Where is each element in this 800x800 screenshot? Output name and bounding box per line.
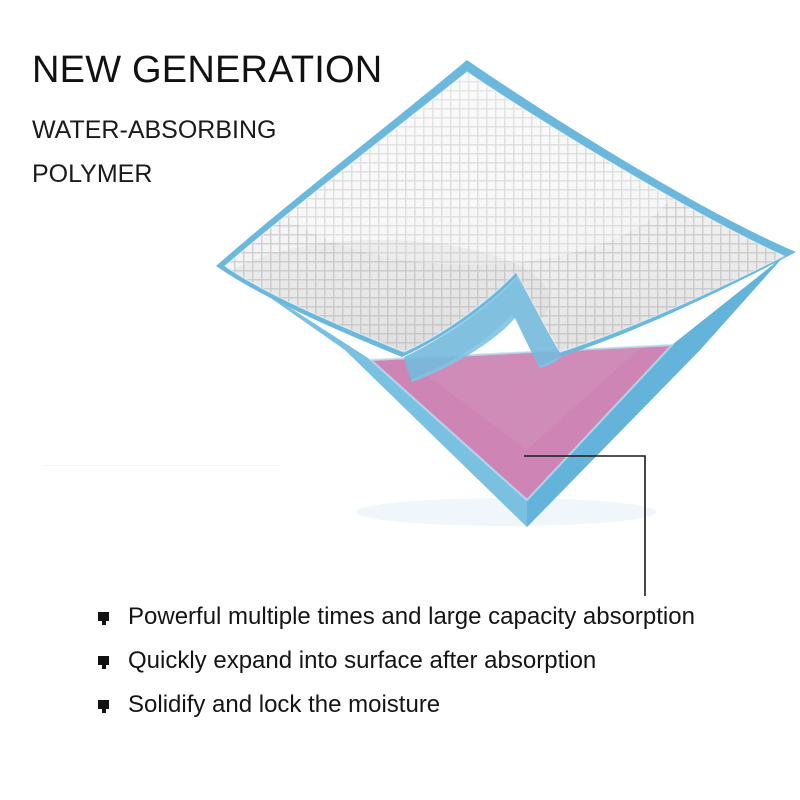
- square-bullet-icon: [98, 612, 109, 623]
- list-item: Solidify and lock the moisture: [98, 689, 695, 733]
- subtitle-line-2: POLYMER: [32, 152, 382, 196]
- square-bullet-icon: [98, 700, 109, 711]
- list-item: Quickly expand into surface after absorp…: [98, 645, 695, 689]
- list-item: Powerful multiple times and large capaci…: [98, 601, 695, 645]
- subtitle-line-1: WATER-ABSORBING: [32, 108, 382, 152]
- square-bullet-icon: [98, 656, 109, 667]
- feature-text: Powerful multiple times and large capaci…: [128, 601, 695, 632]
- feature-list: Powerful multiple times and large capaci…: [98, 601, 695, 733]
- heading-block: NEW GENERATION WATER-ABSORBING POLYMER: [32, 48, 382, 196]
- page-title: NEW GENERATION: [32, 48, 382, 92]
- feature-text: Quickly expand into surface after absorp…: [128, 645, 596, 676]
- infographic-page: NEW GENERATION WATER-ABSORBING POLYMER P…: [0, 0, 800, 800]
- feature-text: Solidify and lock the moisture: [128, 689, 440, 720]
